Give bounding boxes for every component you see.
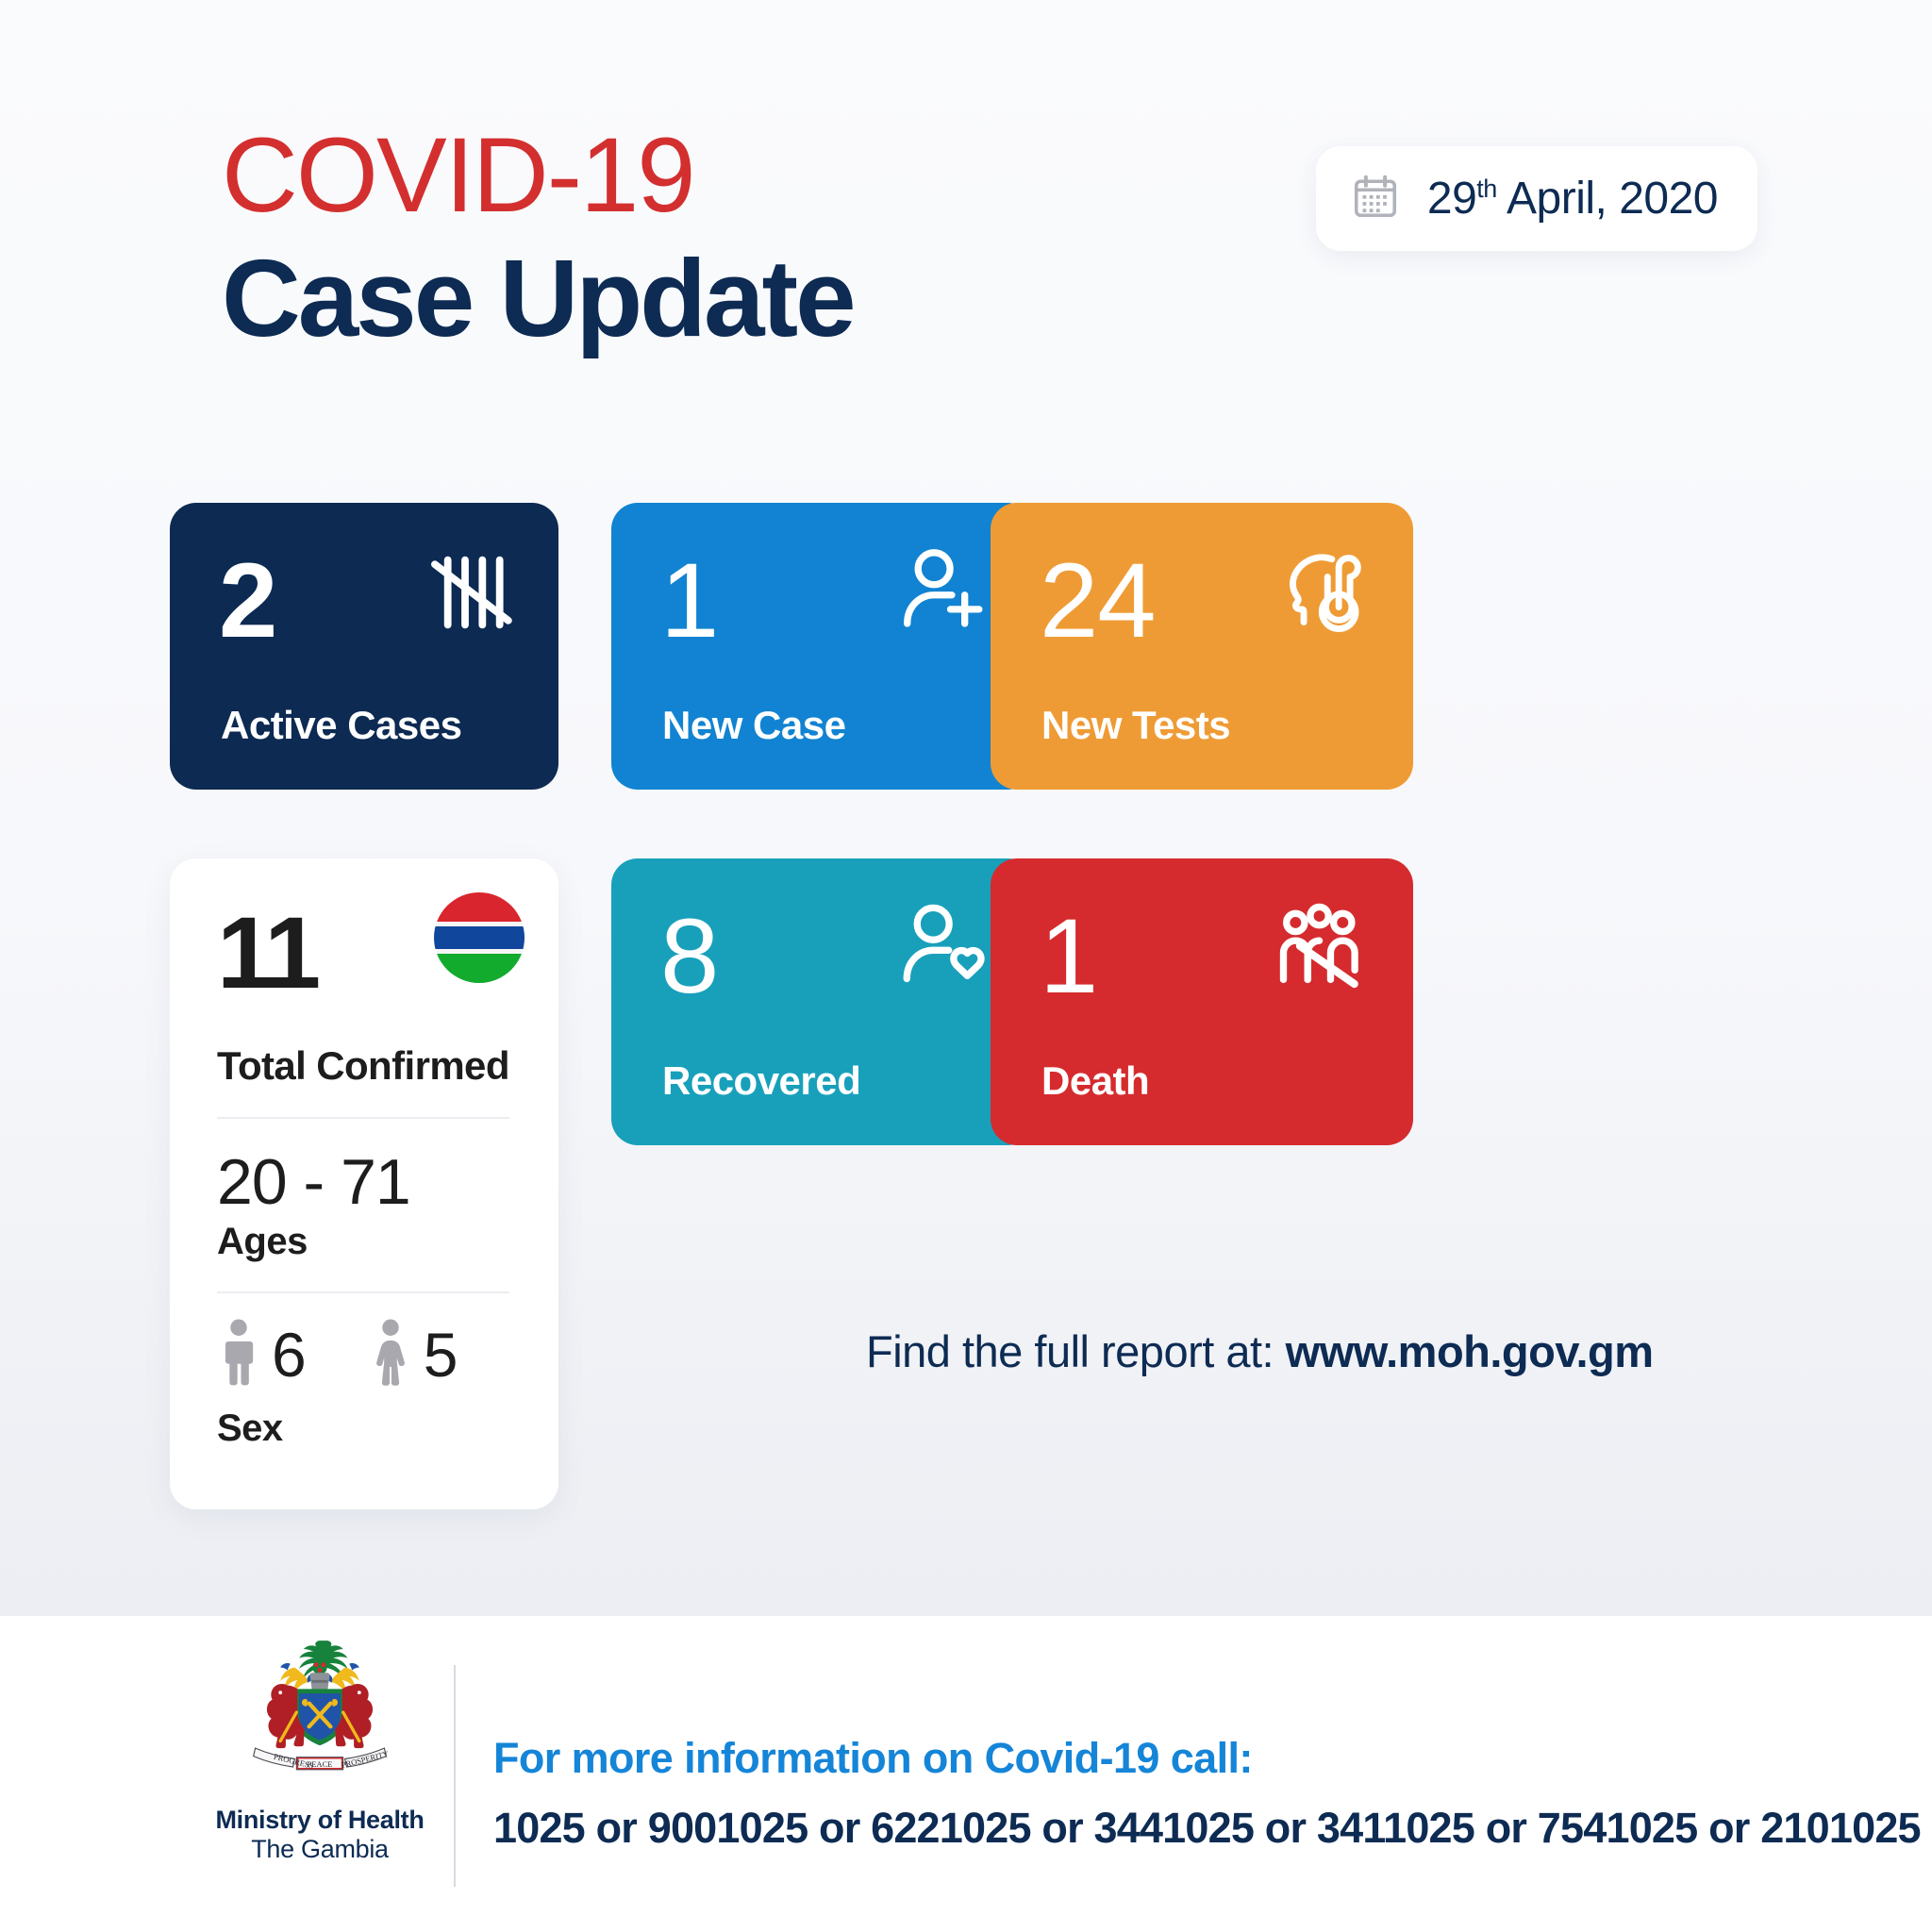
sex-label: Sex — [217, 1407, 515, 1450]
ages-label: Ages — [217, 1221, 515, 1263]
calendar-icon — [1350, 171, 1401, 226]
male-figure-icon — [217, 1318, 260, 1391]
female-stat: 5 — [369, 1318, 458, 1391]
stat-value: 8 — [660, 904, 718, 1009]
find-report-line: Find the full report at: www.moh.gov.gm — [866, 1325, 1654, 1377]
stat-label: New Tests — [1041, 703, 1230, 748]
find-report-prefix: Find the full report at: — [866, 1326, 1286, 1376]
svg-text:PROSPERITY: PROSPERITY — [341, 1749, 390, 1770]
date-badge: 29th April, 2020 — [1316, 146, 1757, 251]
page-title-covid: COVID-19 — [222, 123, 854, 228]
stat-label: Death — [1041, 1058, 1149, 1104]
stat-value: 2 — [219, 548, 275, 654]
person-plus-icon — [889, 541, 992, 644]
stat-card-recovered: 8 Recovered — [611, 858, 1034, 1145]
header: COVID-19 Case Update — [222, 123, 854, 368]
moh-website-link[interactable]: www.moh.gov.gm — [1286, 1326, 1654, 1376]
total-confirmed-label: Total Confirmed — [217, 1043, 515, 1089]
stat-label: Recovered — [662, 1058, 860, 1104]
sex-row: 6 5 — [217, 1318, 515, 1391]
gambia-flag-circle-icon — [434, 892, 525, 983]
stat-label: Active Cases — [221, 703, 462, 748]
male-stat: 6 — [217, 1318, 307, 1391]
divider-ages — [217, 1117, 509, 1119]
female-count: 5 — [424, 1324, 458, 1386]
stat-label: New Case — [662, 703, 845, 748]
divider-sex — [217, 1291, 509, 1293]
footer-contact-block: For more information on Covid-19 call: 1… — [493, 1734, 1921, 1853]
stat-card-new-tests: 24 New Tests — [991, 503, 1413, 790]
stat-card-death: 1 Death — [991, 858, 1413, 1145]
stat-value: 1 — [660, 548, 718, 654]
main-panel: COVID-19 Case Update 29th April, 2020 — [0, 0, 1932, 1616]
svg-text:PEACE: PEACE — [307, 1759, 332, 1769]
footer-logo-block: PROGRESS PEACE PROSPERITY Ministry of He… — [215, 1633, 425, 1864]
person-heart-icon — [889, 896, 992, 1000]
stat-card-active-cases: 2 Active Cases — [170, 503, 558, 790]
stat-value: 1 — [1040, 904, 1097, 1009]
total-confirmed-card: 11 Total Confirmed 20 - 71 Ages 6 — [170, 858, 558, 1509]
male-count: 6 — [272, 1324, 307, 1386]
call-numbers: 1025 or 9001025 or 6221025 or 3441025 or… — [493, 1804, 1921, 1853]
call-heading: For more information on Covid-19 call: — [493, 1734, 1921, 1783]
stat-card-new-case: 1 New Case — [611, 503, 1034, 790]
female-figure-icon — [369, 1318, 412, 1391]
footer-divider — [454, 1665, 456, 1887]
date-text: 29th April, 2020 — [1427, 173, 1718, 225]
ministry-name: Ministry of Health — [215, 1806, 425, 1835]
ages-value: 20 - 71 — [217, 1145, 515, 1219]
head-thermometer-icon — [1268, 541, 1372, 644]
page-title-case-update: Case Update — [222, 228, 854, 368]
tally-marks-icon — [413, 541, 517, 644]
people-slash-icon — [1268, 896, 1372, 1000]
ministry-country: The Gambia — [215, 1835, 425, 1864]
gambia-coat-of-arms-icon: PROGRESS PEACE PROSPERITY — [230, 1783, 409, 1799]
stat-value: 24 — [1040, 548, 1156, 654]
